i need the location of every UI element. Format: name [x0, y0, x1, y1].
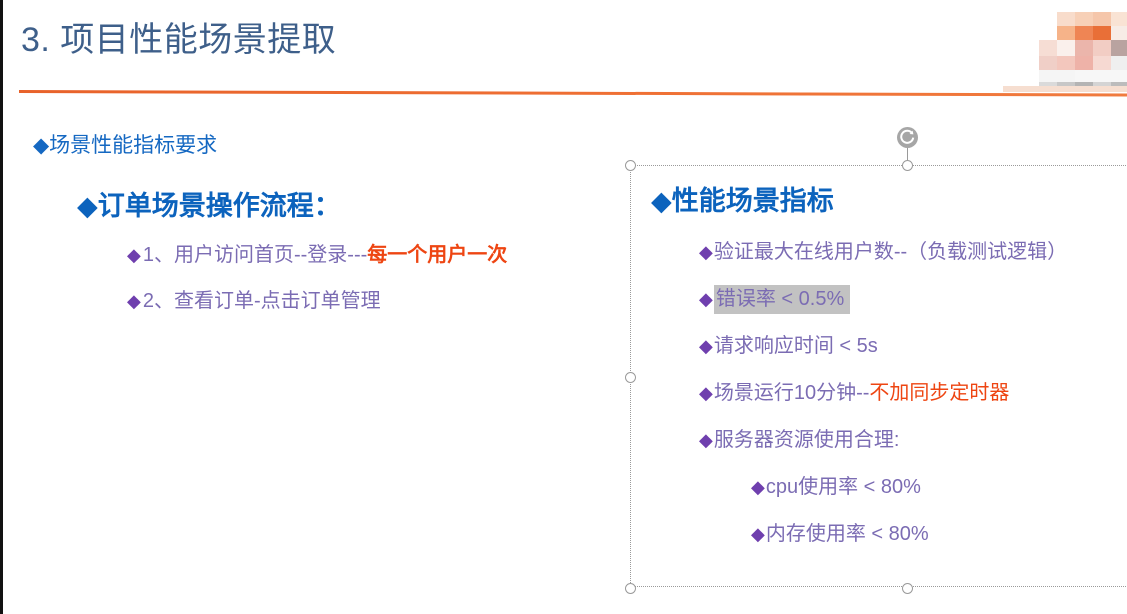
resize-handle-middle-left[interactable] [625, 372, 636, 383]
resize-handle-bottom-center[interactable] [902, 583, 913, 594]
list-item: ◆2、查看订单-点击订单管理 [127, 284, 607, 318]
list-item-text: 2、查看订单-点击订单管理 [143, 290, 381, 312]
list-item: ◆场景运行10分钟--不加同步定时器 [699, 377, 1127, 409]
list-item-text: 服务器资源使用合理: [714, 429, 900, 451]
title-divider [19, 90, 1127, 96]
list-item: ◆服务器资源使用合理: [699, 424, 1127, 456]
left-column-heading: ◆订单场景操作流程： [77, 186, 607, 226]
list-item-emphasis: 不加同步定时器 [869, 382, 1009, 404]
list-item-text: cpu使用率 < 80% [766, 476, 921, 498]
resize-handle-top-left[interactable] [625, 160, 636, 171]
left-column: ◆订单场景操作流程： ◆1、用户访问首页--登录---每一个用户一次 ◆2、查看… [77, 186, 607, 318]
diamond-bullet-icon: ◆ [699, 289, 713, 309]
diamond-bullet-icon: ◆ [127, 291, 141, 311]
page-title: 3. 项目性能场景提取 [21, 18, 336, 62]
list-item-text: 请求响应时间 < 5s [714, 335, 878, 357]
list-item: ◆1、用户访问首页--登录---每一个用户一次 [127, 238, 607, 272]
list-item-text: 场景运行10分钟-- [714, 382, 870, 404]
diamond-bullet-icon: ◆ [699, 336, 713, 356]
selected-textbox[interactable]: ◆性能场景指标 ◆验证最大在线用户数--（负载测试逻辑） ◆错误率 < 0.5%… [630, 165, 1127, 587]
list-item-emphasis: 每一个用户一次 [367, 244, 507, 266]
list-item-text: 内存使用率 < 80% [766, 523, 929, 545]
diamond-bullet-icon: ◆ [127, 245, 141, 265]
list-item-text: 1、用户访问首页--登录--- [143, 244, 367, 266]
slide-canvas: 3. 项目性能场景提取 ◆场景性能指标要求 ◆订单场景操作流程： [0, 0, 1127, 614]
diamond-bullet-icon: ◆ [699, 242, 713, 262]
resize-handle-top-center[interactable] [902, 160, 913, 171]
list-item: ◆cpu使用率 < 80% [751, 471, 1127, 503]
right-column: ◆性能场景指标 ◆验证最大在线用户数--（负载测试逻辑） ◆错误率 < 0.5%… [641, 181, 1127, 550]
list-item-highlighted: ◆错误率 < 0.5% [699, 283, 1127, 315]
list-item-text: 验证最大在线用户数--（负载测试逻辑） [714, 241, 1067, 263]
diamond-bullet-icon: ◆ [699, 383, 713, 403]
resize-handle-bottom-left[interactable] [625, 583, 636, 594]
diamond-bullet-icon: ◆ [699, 430, 713, 450]
right-column-heading: ◆性能场景指标 [651, 181, 1127, 221]
list-item-text: 错误率 < 0.5% [714, 285, 850, 314]
list-item: ◆内存使用率 < 80% [751, 518, 1127, 550]
list-item: ◆验证最大在线用户数--（负载测试逻辑） [699, 236, 1127, 268]
diamond-bullet-icon: ◆ [751, 524, 765, 544]
rotate-icon[interactable] [897, 127, 918, 148]
blurred-logo [985, 0, 1127, 92]
list-item: ◆请求响应时间 < 5s [699, 330, 1127, 362]
diamond-bullet-icon: ◆ [751, 477, 765, 497]
section-label: ◆场景性能指标要求 [33, 131, 217, 161]
